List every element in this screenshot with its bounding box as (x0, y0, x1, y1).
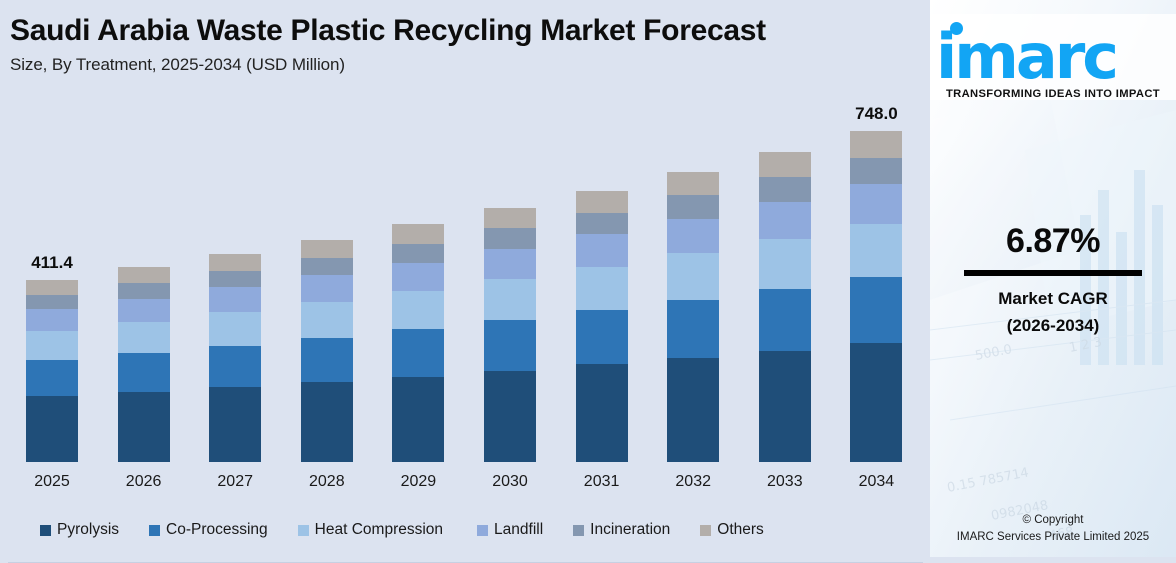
cagr-block: 6.87% Market CAGR (2026-2034) (930, 222, 1176, 336)
bar-total-label-2034: 748.0 (855, 104, 898, 124)
bar-segment-others[interactable] (576, 191, 628, 213)
bar-segment-others[interactable] (301, 240, 353, 258)
legend-swatch-icon (149, 525, 160, 536)
x-axis-tick-labels: 2025202620272028202920302031203220332034 (0, 466, 930, 500)
bar-segment-landfill[interactable] (118, 299, 170, 322)
bar-segment-landfill[interactable] (26, 309, 78, 331)
bar-column-2028[interactable] (301, 240, 353, 462)
logo-wordmark: imarc (936, 26, 1116, 88)
plot-area: 411.4748.0 (0, 100, 930, 465)
bar-segment-incineration[interactable] (301, 258, 353, 276)
cagr-value: 6.87% (930, 222, 1176, 261)
cagr-period: (2026-2034) (930, 316, 1176, 336)
bar-segment-heat-compression[interactable] (26, 331, 78, 360)
chart-subtitle: Size, By Treatment, 2025-2034 (USD Milli… (10, 55, 910, 75)
legend-label: Heat Compression (315, 521, 443, 539)
bar-segment-landfill[interactable] (667, 219, 719, 254)
bar-column-2033[interactable] (759, 152, 811, 462)
bar-column-2027[interactable] (209, 254, 261, 462)
bar-segment-heat-compression[interactable] (484, 279, 536, 320)
bar-segment-co-processing[interactable] (759, 289, 811, 351)
x-axis-label-2032: 2032 (667, 473, 719, 491)
bar-segment-landfill[interactable] (576, 234, 628, 267)
svg-text:1 2 3: 1 2 3 (1068, 335, 1103, 356)
bar-segment-incineration[interactable] (209, 271, 261, 288)
legend-label: Landfill (494, 521, 543, 539)
bar-segment-pyrolysis[interactable] (850, 343, 902, 462)
bar-segment-co-processing[interactable] (118, 353, 170, 392)
legend-item-others[interactable]: Others (700, 521, 764, 539)
x-axis-label-2025: 2025 (26, 473, 78, 491)
x-axis-label-2028: 2028 (301, 473, 353, 491)
bar-segment-others[interactable] (392, 224, 444, 243)
bar-segment-heat-compression[interactable] (209, 312, 261, 345)
chart-panel: Saudi Arabia Waste Plastic Recycling Mar… (0, 0, 930, 557)
bar-segment-pyrolysis[interactable] (667, 358, 719, 462)
bar-segment-landfill[interactable] (209, 287, 261, 312)
bar-segment-others[interactable] (850, 131, 902, 157)
bar-segment-pyrolysis[interactable] (392, 377, 444, 462)
bar-segment-incineration[interactable] (392, 244, 444, 263)
bar-segment-pyrolysis[interactable] (209, 387, 261, 462)
x-axis-label-2031: 2031 (576, 473, 628, 491)
bar-segment-incineration[interactable] (576, 213, 628, 235)
legend-swatch-icon (298, 525, 309, 536)
bar-segment-landfill[interactable] (301, 275, 353, 302)
bar-segment-incineration[interactable] (26, 295, 78, 310)
bar-column-2030[interactable] (484, 208, 536, 462)
bar-column-2032[interactable] (667, 172, 719, 462)
legend-item-co-processing[interactable]: Co-Processing (149, 521, 268, 539)
bar-segment-co-processing[interactable] (26, 360, 78, 396)
x-axis-label-2030: 2030 (484, 473, 536, 491)
legend-item-pyrolysis[interactable]: Pyrolysis (40, 521, 119, 539)
bar-segment-pyrolysis[interactable] (576, 364, 628, 462)
bar-segment-others[interactable] (118, 267, 170, 283)
bar-segment-heat-compression[interactable] (301, 302, 353, 338)
legend-item-heat-compression[interactable]: Heat Compression (298, 521, 443, 539)
bar-column-2034[interactable]: 748.0 (850, 131, 902, 462)
legend-label: Pyrolysis (57, 521, 119, 539)
legend-label: Others (717, 521, 764, 539)
bar-segment-heat-compression[interactable] (118, 322, 170, 353)
bar-segment-heat-compression[interactable] (850, 224, 902, 277)
copyright-line-1: © Copyright (930, 512, 1176, 529)
bar-segment-incineration[interactable] (759, 177, 811, 202)
bar-segment-others[interactable] (209, 254, 261, 271)
legend-swatch-icon (40, 525, 51, 536)
bar-segment-co-processing[interactable] (301, 338, 353, 382)
bar-segment-co-processing[interactable] (576, 310, 628, 364)
bar-segment-co-processing[interactable] (484, 320, 536, 371)
x-axis-label-2029: 2029 (392, 473, 444, 491)
bar-segment-others[interactable] (484, 208, 536, 228)
svg-text:500.0: 500.0 (974, 342, 1013, 364)
bar-segment-others[interactable] (667, 172, 719, 195)
bar-segment-co-processing[interactable] (209, 346, 261, 388)
legend-swatch-icon (573, 525, 584, 536)
brand-panel: 500.0 1 2 3 0.15 785714 0982048 468 imar… (930, 0, 1176, 557)
cagr-caption: Market CAGR (930, 289, 1176, 309)
bar-segment-co-processing[interactable] (850, 277, 902, 343)
bar-segment-heat-compression[interactable] (576, 267, 628, 310)
bar-segment-pyrolysis[interactable] (484, 371, 536, 462)
bar-segment-co-processing[interactable] (392, 329, 444, 377)
bar-segment-landfill[interactable] (484, 249, 536, 279)
legend-item-incineration[interactable]: Incineration (573, 521, 670, 539)
bar-segment-landfill[interactable] (392, 263, 444, 291)
bar-segment-co-processing[interactable] (667, 300, 719, 358)
logo-tagline: TRANSFORMING IDEAS INTO IMPACT (946, 88, 1172, 100)
bar-segment-others[interactable] (759, 152, 811, 177)
bar-segment-incineration[interactable] (118, 283, 170, 299)
svg-text:0.15 785714: 0.15 785714 (946, 465, 1030, 496)
bar-segment-pyrolysis[interactable] (26, 396, 78, 462)
legend-item-landfill[interactable]: Landfill (477, 521, 543, 539)
legend-swatch-icon (700, 525, 711, 536)
bar-segment-heat-compression[interactable] (759, 239, 811, 289)
x-axis-label-2026: 2026 (118, 473, 170, 491)
bar-segment-incineration[interactable] (484, 228, 536, 248)
title-block: Saudi Arabia Waste Plastic Recycling Mar… (10, 14, 910, 75)
bar-segment-landfill[interactable] (850, 184, 902, 224)
bar-column-2026[interactable] (118, 267, 170, 462)
legend-label: Incineration (590, 521, 670, 539)
copyright-line-2: IMARC Services Private Limited 2025 (930, 529, 1176, 546)
legend-swatch-icon (477, 525, 488, 536)
bar-segment-pyrolysis[interactable] (301, 382, 353, 462)
bar-segment-heat-compression[interactable] (392, 291, 444, 329)
x-axis-label-2034: 2034 (850, 473, 902, 491)
bar-column-2025[interactable]: 411.4 (26, 280, 78, 462)
bar-segment-heat-compression[interactable] (667, 253, 719, 299)
chart-legend: PyrolysisCo-ProcessingHeat CompressionLa… (0, 515, 930, 545)
bar-segment-pyrolysis[interactable] (118, 392, 170, 462)
legend-label: Co-Processing (166, 521, 268, 539)
bar-segment-landfill[interactable] (759, 202, 811, 239)
bar-segment-others[interactable] (26, 280, 78, 295)
bar-column-2031[interactable] (576, 191, 628, 462)
bar-segment-pyrolysis[interactable] (759, 351, 811, 463)
copyright-notice: © Copyright IMARC Services Private Limit… (930, 512, 1176, 547)
page-title: Saudi Arabia Waste Plastic Recycling Mar… (10, 14, 910, 48)
bar-segment-incineration[interactable] (850, 158, 902, 184)
bar-segment-incineration[interactable] (667, 195, 719, 218)
bar-total-label-2025: 411.4 (31, 253, 73, 273)
cagr-divider (964, 270, 1142, 276)
x-axis-label-2033: 2033 (759, 473, 811, 491)
bar-column-2029[interactable] (392, 224, 444, 462)
x-axis-label-2027: 2027 (209, 473, 261, 491)
chart-screenshot: Saudi Arabia Waste Plastic Recycling Mar… (0, 0, 1176, 557)
